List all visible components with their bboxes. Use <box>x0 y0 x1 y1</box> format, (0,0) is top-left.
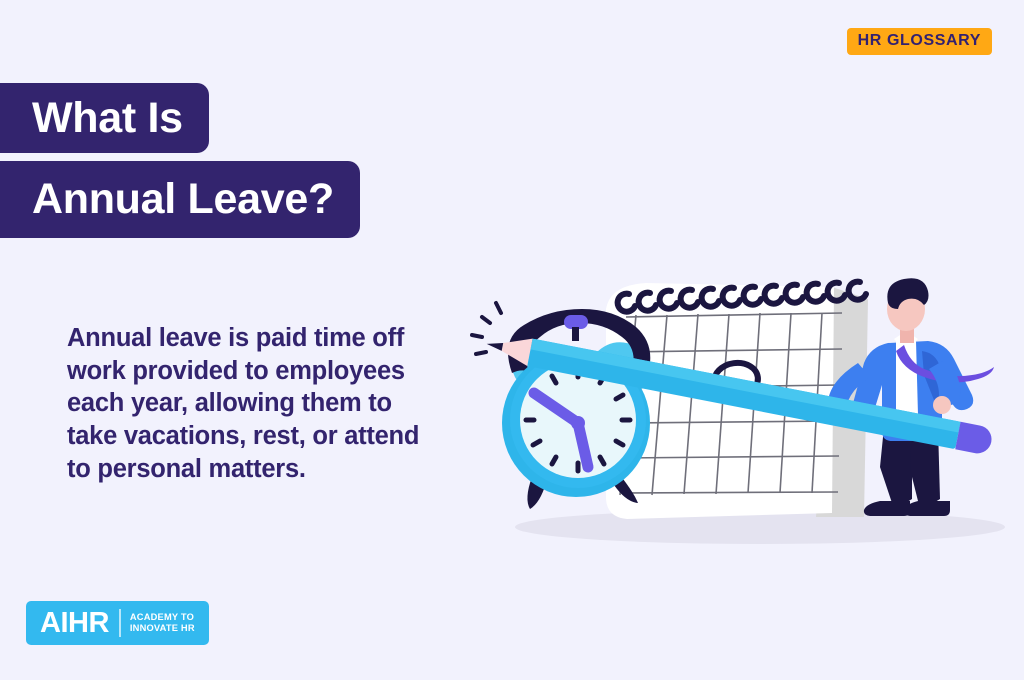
annual-leave-illustration <box>460 255 1024 555</box>
hr-glossary-badge: HR GLOSSARY <box>847 28 992 55</box>
page-title-line-1: What Is <box>0 83 209 153</box>
aihr-logo: AIHR ACADEMY TO INNOVATE HR <box>26 601 209 645</box>
infographic-canvas: HR GLOSSARY What Is Annual Leave? Annual… <box>0 0 1024 680</box>
clock-center-pin <box>571 416 585 430</box>
definition-paragraph: Annual leave is paid time off work provi… <box>67 322 432 485</box>
clock-top-knob <box>564 315 588 329</box>
pencil-graphite-tip <box>486 340 503 351</box>
alarm-clock <box>472 303 650 509</box>
clock-knob-stem <box>572 327 579 341</box>
aihr-logo-tagline-line-1: ACADEMY TO <box>130 612 194 622</box>
logo-divider <box>119 609 121 637</box>
aihr-logo-wordmark: AIHR <box>40 609 109 638</box>
page-title-line-1-text: What Is <box>32 94 183 143</box>
person-shoe-left <box>864 501 910 516</box>
aihr-logo-tagline-line-2: INNOVATE HR <box>130 623 195 633</box>
page-title-line-2-text: Annual Leave? <box>32 175 334 224</box>
pencil-eraser <box>955 422 994 456</box>
person-shoe-right <box>904 501 950 516</box>
page-title-line-2: Annual Leave? <box>0 161 360 238</box>
person-hand-right <box>933 396 951 414</box>
aihr-logo-tagline: ACADEMY TO INNOVATE HR <box>130 612 195 635</box>
